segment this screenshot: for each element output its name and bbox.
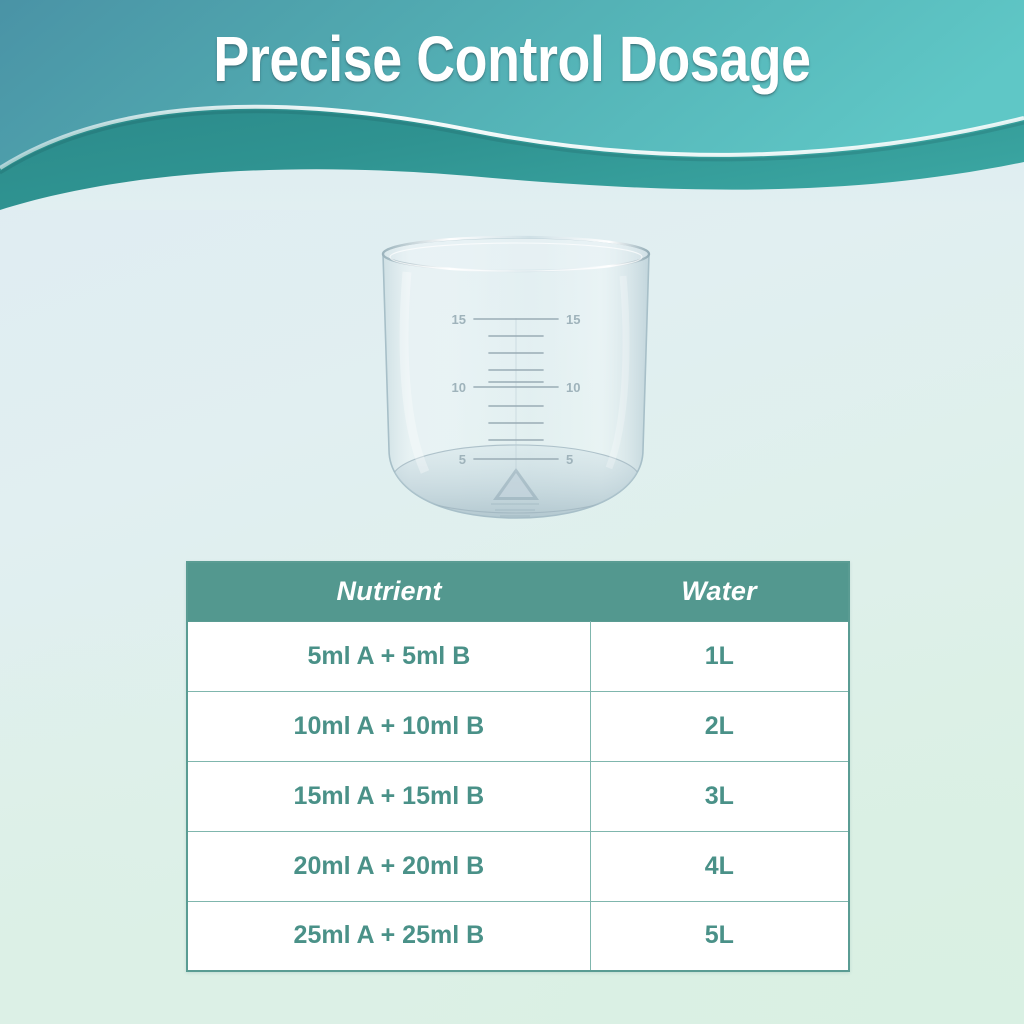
svg-text:10: 10 xyxy=(566,380,580,395)
cell-water: 3L xyxy=(590,761,849,831)
svg-text:5: 5 xyxy=(566,452,573,467)
table-row: 20ml A + 20ml B 4L xyxy=(187,831,849,901)
cell-nutrient: 25ml A + 25ml B xyxy=(187,901,590,971)
header-banner: Precise Control Dosage xyxy=(0,0,1024,210)
svg-text:15: 15 xyxy=(566,312,580,327)
measuring-cup-image: 15 15 10 10 5 5 xyxy=(371,232,661,532)
table-row: 10ml A + 10ml B 2L xyxy=(187,691,849,761)
svg-text:15: 15 xyxy=(452,312,466,327)
table-header: Nutrient Water xyxy=(187,562,849,621)
cell-nutrient: 15ml A + 15ml B xyxy=(187,761,590,831)
cell-water: 4L xyxy=(590,831,849,901)
svg-text:10: 10 xyxy=(452,380,466,395)
cell-nutrient: 5ml A + 5ml B xyxy=(187,621,590,691)
cell-water: 2L xyxy=(590,691,849,761)
column-header-water: Water xyxy=(590,562,849,621)
column-header-nutrient: Nutrient xyxy=(187,562,590,621)
promo-page: Precise Control Dosage xyxy=(0,0,1024,1024)
page-title: Precise Control Dosage xyxy=(82,23,942,95)
cell-water: 5L xyxy=(590,901,849,971)
table-row: 5ml A + 5ml B 1L xyxy=(187,621,849,691)
cell-nutrient: 20ml A + 20ml B xyxy=(187,831,590,901)
table-body: 5ml A + 5ml B 1L 10ml A + 10ml B 2L 15ml… xyxy=(187,621,849,971)
table-row: 15ml A + 15ml B 3L xyxy=(187,761,849,831)
cell-water: 1L xyxy=(590,621,849,691)
table-header-row: Nutrient Water xyxy=(187,562,849,621)
cell-nutrient: 10ml A + 10ml B xyxy=(187,691,590,761)
svg-text:5: 5 xyxy=(459,452,466,467)
dosage-table: Nutrient Water 5ml A + 5ml B 1L 10ml A +… xyxy=(186,561,850,972)
table-row: 25ml A + 25ml B 5L xyxy=(187,901,849,971)
measuring-cup-graphic: 15 15 10 10 5 5 xyxy=(371,232,661,532)
